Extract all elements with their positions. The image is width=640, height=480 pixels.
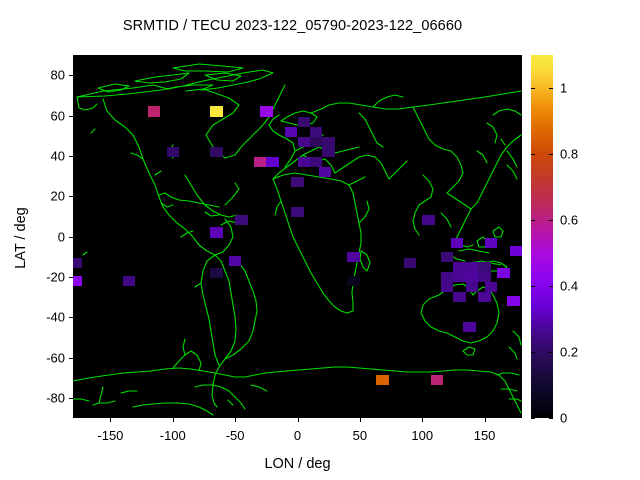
colorbar-tick-label: 1: [560, 81, 567, 96]
map-data-cell: [210, 227, 222, 237]
map-data-cell: [322, 147, 334, 157]
y-axis-label: LAT / deg: [13, 158, 29, 318]
x-axis-tick-label: -150: [97, 428, 123, 443]
x-axis-tick-label: 50: [353, 428, 367, 443]
map-data-cell: [466, 282, 478, 292]
map-data-cell: [453, 272, 465, 282]
map-data-cell: [347, 276, 359, 286]
map-data-cell: [431, 375, 443, 385]
map-data-cell: [260, 106, 272, 116]
map-data-cell: [298, 117, 310, 127]
x-axis-tick-label: -100: [160, 428, 186, 443]
map-data-cell: [310, 157, 322, 167]
data-cells-layer: [73, 55, 522, 418]
map-data-cell: [451, 238, 463, 248]
map-data-cell: [404, 258, 416, 268]
colorbar-tick: [531, 88, 535, 89]
map-data-cell: [478, 262, 490, 272]
colorbar-tick-label: 0: [560, 411, 567, 426]
map-data-cell: [210, 106, 222, 116]
map-data-cell: [73, 258, 82, 268]
colorbar-tick: [549, 352, 553, 353]
map-data-cell: [466, 272, 478, 282]
map-data-cell: [291, 207, 303, 217]
y-axis-tick: [69, 237, 73, 238]
map-data-cell: [322, 137, 334, 147]
colorbar-tick: [531, 220, 535, 221]
colorbar-tick: [531, 352, 535, 353]
y-axis-tick-label: -60: [7, 350, 65, 365]
map-data-cell: [235, 215, 247, 225]
map-data-cell: [485, 282, 497, 292]
y-axis-tick: [69, 116, 73, 117]
map-data-cell: [73, 276, 82, 286]
y-axis-tick: [69, 156, 73, 157]
map-data-cell: [510, 246, 522, 256]
colorbar-tick: [549, 286, 553, 287]
colorbar-tick: [531, 286, 535, 287]
x-axis-tick: [422, 418, 423, 422]
map-data-cell: [210, 268, 222, 278]
x-axis-label: LON / deg: [73, 456, 522, 472]
x-axis-tick: [298, 418, 299, 422]
colorbar-tick: [549, 220, 553, 221]
colorbar-tick: [531, 154, 535, 155]
map-data-cell: [123, 276, 135, 286]
map-data-cell: [466, 262, 478, 272]
map-data-cell: [319, 167, 331, 177]
map-data-cell: [463, 322, 475, 332]
map-data-cell: [453, 262, 465, 272]
map-data-cell: [478, 292, 490, 302]
map-data-cell: [266, 157, 278, 167]
x-axis-tick: [110, 418, 111, 422]
y-axis-tick: [69, 196, 73, 197]
y-axis-tick: [69, 317, 73, 318]
y-axis-tick-label: 60: [7, 108, 65, 123]
page-title: SRMTID / TECU 2023-122_05790-2023-122_06…: [0, 18, 585, 34]
map-data-cell: [310, 137, 322, 147]
colorbar-tick-label: 0.8: [560, 147, 578, 162]
colorbar-tick: [549, 88, 553, 89]
y-axis-tick: [69, 358, 73, 359]
x-axis-tick: [173, 418, 174, 422]
map-data-cell: [441, 252, 453, 262]
map-data-cell: [497, 268, 509, 278]
colorbar-tick-label: 0.6: [560, 213, 578, 228]
map-data-cell: [298, 137, 310, 147]
map-data-cell: [478, 272, 490, 282]
map-data-cell: [485, 238, 497, 248]
figure-canvas: SRMTID / TECU 2023-122_05790-2023-122_06…: [0, 0, 640, 480]
x-axis-tick-label: 100: [411, 428, 433, 443]
y-axis-tick-label: -80: [7, 390, 65, 405]
map-data-cell: [507, 296, 519, 306]
map-data-cell: [422, 215, 434, 225]
colorbar-tick: [549, 418, 553, 419]
x-axis-tick: [360, 418, 361, 422]
colorbar-tick-label: 0.4: [560, 279, 578, 294]
colorbar-tick: [549, 154, 553, 155]
map-data-cell: [298, 157, 310, 167]
map-data-cell: [453, 292, 465, 302]
y-axis-tick: [69, 398, 73, 399]
map-plot-area[interactable]: [73, 55, 522, 418]
map-data-cell: [291, 177, 303, 187]
y-axis-tick: [69, 75, 73, 76]
map-data-cell: [441, 272, 453, 282]
map-data-cell: [441, 282, 453, 292]
map-data-cell: [347, 252, 359, 262]
x-axis-tick: [485, 418, 486, 422]
colorbar-tick: [531, 418, 535, 419]
map-data-cell: [310, 127, 322, 137]
x-axis-tick-label: 0: [294, 428, 301, 443]
x-axis-tick: [235, 418, 236, 422]
map-data-cell: [229, 256, 241, 266]
x-axis-tick-label: -50: [226, 428, 245, 443]
map-data-cell: [167, 147, 179, 157]
colorbar-tick-label: 0.2: [560, 345, 578, 360]
map-data-cell: [254, 157, 266, 167]
map-data-cell: [285, 127, 297, 137]
y-axis-tick: [69, 277, 73, 278]
x-axis-tick-label: 150: [474, 428, 496, 443]
map-data-cell: [148, 106, 160, 116]
colorbar[interactable]: [531, 55, 553, 418]
map-data-cell: [210, 147, 222, 157]
map-data-cell: [376, 375, 388, 385]
y-axis-tick-label: 80: [7, 68, 65, 83]
